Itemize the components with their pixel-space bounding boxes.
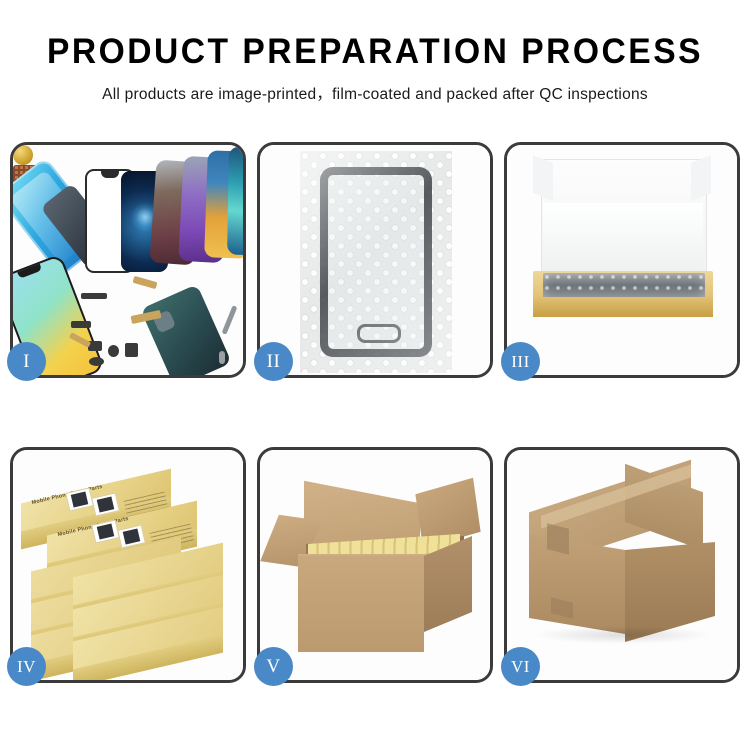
carton-shadow xyxy=(533,626,713,644)
box-flap-right-icon xyxy=(691,155,711,201)
part-chip-3-icon xyxy=(108,345,119,357)
step-image-3 xyxy=(507,145,737,375)
step-image-4: Mobile Phone Spare Parts Mobile Phone Sp… xyxy=(13,450,243,680)
step-panel-2: II xyxy=(257,142,493,378)
process-steps-grid: I II III xyxy=(10,142,740,685)
phone-fan-4-icon xyxy=(227,147,243,256)
step-badge-6: VI xyxy=(501,647,540,686)
header: PRODUCT PREPARATION PROCESS All products… xyxy=(0,0,750,104)
page-subtitle: All products are image-printed，film-coat… xyxy=(0,82,750,104)
step-image-1 xyxy=(13,145,243,375)
phone-parts-collage xyxy=(13,145,243,375)
kraft-tray-front-icon xyxy=(533,297,713,317)
page-title: PRODUCT PREPARATION PROCESS xyxy=(15,34,735,71)
step-panel-3: III xyxy=(504,142,740,378)
carton-mark-1-icon xyxy=(547,523,569,554)
step-image-5 xyxy=(260,450,490,680)
step-panel-5: V xyxy=(257,447,493,683)
flex-cable-1-icon xyxy=(133,276,158,289)
part-screw-icon xyxy=(219,351,225,364)
box-flap-left-icon xyxy=(533,155,553,201)
part-chip-5-icon xyxy=(71,321,91,328)
part-chip-6-icon xyxy=(89,357,104,366)
gold-coil-part-icon xyxy=(13,145,33,165)
part-chip-4-icon xyxy=(125,343,138,357)
step-badge-3: III xyxy=(501,342,540,381)
wrap-sheen xyxy=(300,151,452,373)
foam-padding-icon xyxy=(543,203,703,277)
step-badge-2: II xyxy=(254,342,293,381)
sealed-carton-front-icon xyxy=(529,534,625,634)
part-tool-icon xyxy=(222,305,238,335)
step-badge-4: IV xyxy=(7,647,46,686)
bubble-wrap-icon xyxy=(300,151,452,373)
step-badge-1: I xyxy=(7,342,46,381)
step-panel-1: I xyxy=(10,142,246,378)
step-image-6 xyxy=(507,450,737,680)
part-chip-1-icon xyxy=(81,293,107,299)
wrapped-screen-in-box-icon xyxy=(543,273,705,300)
step-panel-4: Mobile Phone Spare Parts Mobile Phone Sp… xyxy=(10,447,246,683)
step-image-2 xyxy=(260,145,490,375)
infographic-page: PRODUCT PREPARATION PROCESS All products… xyxy=(0,0,750,750)
step-panel-6: VI xyxy=(504,447,740,683)
carton-front-icon xyxy=(298,556,424,652)
step-badge-5: V xyxy=(254,647,293,686)
